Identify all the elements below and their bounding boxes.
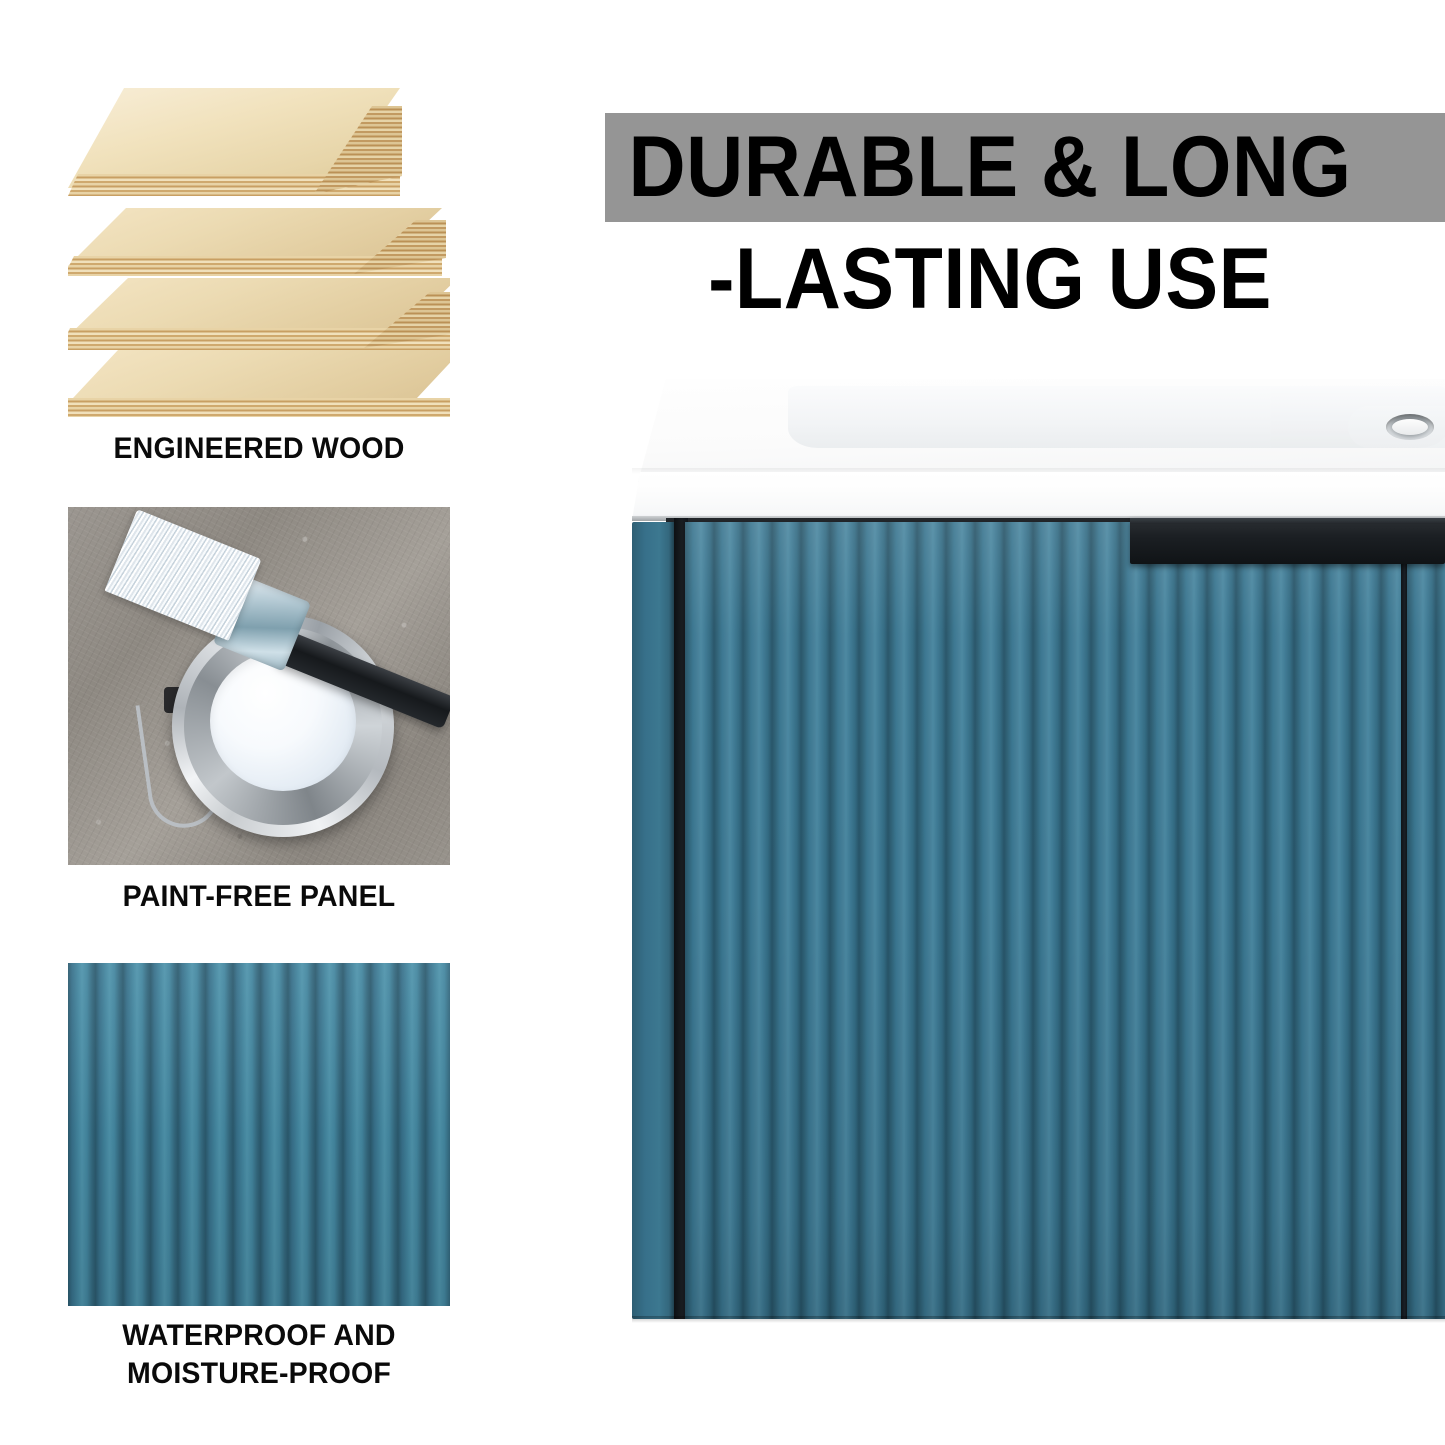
fluted-panel-icon (68, 963, 450, 1306)
fluted-texture-swatch (68, 963, 450, 1306)
sink-basin (788, 386, 1445, 448)
headline-line-1: DURABLE & LONG (636, 112, 1344, 222)
drawer-handle-bar-highlight (1130, 518, 1445, 524)
cabinet-body (632, 518, 1445, 1324)
feature-caption-engineered-wood: ENGINEERED WOOD (78, 430, 441, 468)
feature-caption-waterproof: WATERPROOF AND MOISTURE-PROOF (78, 1317, 441, 1394)
cabinet-bottom-edge (632, 1316, 1445, 1323)
feature-waterproof-moisture-proof: WATERPROOF AND MOISTURE-PROOF (68, 963, 450, 1306)
product-vanity-image (632, 378, 1445, 1324)
faucet-hole (1386, 414, 1434, 440)
headline-line-2: -LASTING USE (636, 233, 1344, 325)
countertop-surface (638, 378, 1445, 482)
plywood-stack-icon (68, 62, 450, 417)
paint-can-icon (68, 507, 450, 865)
drawer-front-right[interactable] (1407, 522, 1445, 1319)
feature-caption-waterproof-line1: WATERPROOF AND (78, 1317, 441, 1355)
feature-caption-paint-free-panel: PAINT-FREE PANEL (78, 878, 441, 916)
drawer-handle-bar[interactable] (1130, 518, 1445, 564)
feature-paint-free-panel: PAINT-FREE PANEL (68, 507, 450, 865)
infographic-canvas: DURABLE & LONG -LASTING USE (0, 0, 1445, 1445)
drawer-front-left[interactable] (685, 522, 1402, 1319)
countertop-front-edge (632, 472, 1445, 520)
cabinet-side-panel (632, 522, 676, 1319)
plywood-scene (68, 62, 450, 417)
feature-caption-waterproof-line2: MOISTURE-PROOF (78, 1355, 441, 1393)
feature-engineered-wood: ENGINEERED WOOD (68, 62, 450, 417)
